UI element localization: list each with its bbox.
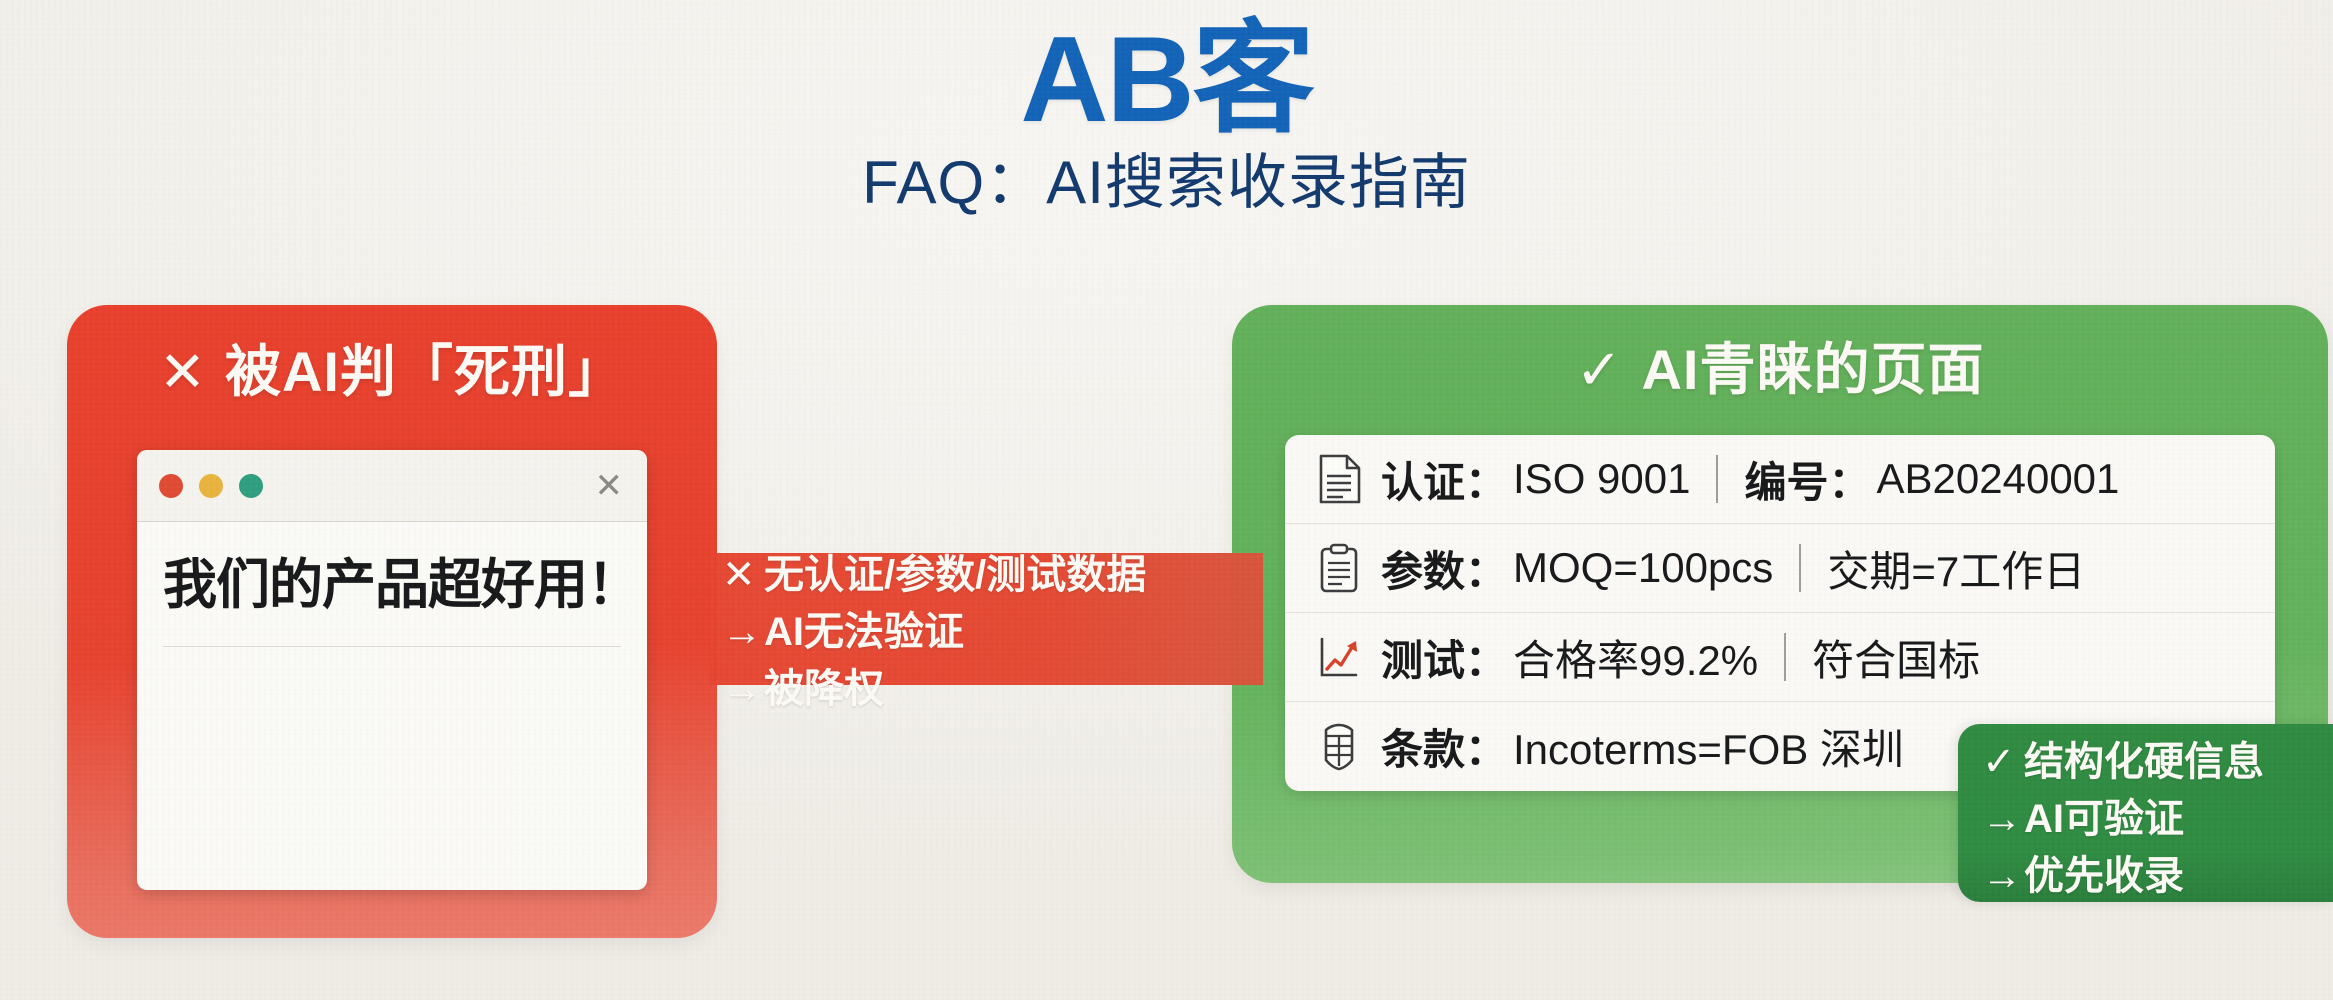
panel-bad-header: ✕被AI判「死刑」 <box>67 305 717 408</box>
check-mark-icon: ✓ <box>1576 337 1624 403</box>
row-value-primary: Incoterms=FOB 深圳 <box>1513 716 1904 777</box>
row-values: ISO 9001 编号： AB20240001 <box>1513 449 2119 510</box>
annotation-line: ✕无认证/参数/测试数据 <box>710 547 1146 604</box>
row-values: Incoterms=FOB 深圳 <box>1513 716 1904 777</box>
clipboard-icon <box>1313 542 1365 594</box>
annotation-text: 无认证/参数/测试数据 <box>764 553 1146 597</box>
annotation-bad-lines: ✕无认证/参数/测试数据 →AI无法验证 →被降权 <box>710 547 1146 717</box>
browser-content: 我们的产品超好用！ <box>137 522 647 647</box>
browser-window-mockup: ✕ 我们的产品超好用！ <box>137 450 647 890</box>
arrow-right-icon: → <box>1982 848 2024 905</box>
mock-page-headline: 我们的产品超好用！ <box>163 550 621 620</box>
traffic-light-close-icon[interactable] <box>159 474 183 498</box>
table-row: 参数： MOQ=100pcs 交期=7工作日 <box>1285 524 2275 613</box>
row-value-primary: ISO 9001 <box>1513 455 1690 503</box>
row-value-primary: MOQ=100pcs <box>1513 544 1773 592</box>
header: AB客 FAQ：AI搜索收录指南 <box>0 18 2333 216</box>
divider <box>163 646 621 647</box>
check-mark-icon: ✓ <box>1982 734 2024 791</box>
annotation-text: AI无法验证 <box>764 610 964 654</box>
annotation-text: 被降权 <box>764 667 884 711</box>
table-row: 认证： ISO 9001 编号： AB20240001 <box>1285 435 2275 524</box>
annotation-line: →被降权 <box>710 661 1146 718</box>
divider <box>1716 455 1718 503</box>
chart-increasing-icon <box>1313 631 1365 683</box>
row-label: 条款： <box>1381 716 1507 777</box>
infographic-canvas: AB客 FAQ：AI搜索收录指南 ✕被AI判「死刑」 ✕ 我们的产品超好用！ ✓… <box>0 0 2333 1000</box>
row-value-secondary: AB20240001 <box>1877 455 2120 503</box>
traffic-light-minimize-icon[interactable] <box>199 474 223 498</box>
row-label: 测试： <box>1381 627 1507 688</box>
annotation-good-lines: ✓结构化硬信息 →AI可验证 →优先收录 <box>1958 724 2333 904</box>
cross-mark-icon: ✕ <box>159 339 207 405</box>
panel-good-header: ✓AI青睐的页面 <box>1232 305 2328 406</box>
panel-bad-example: ✕被AI判「死刑」 ✕ 我们的产品超好用！ <box>67 305 717 938</box>
divider <box>1799 544 1801 592</box>
row-value-primary: 合格率99.2% <box>1513 627 1758 688</box>
annotation-text: AI可验证 <box>2024 797 2184 841</box>
annotation-text: 优先收录 <box>2024 854 2184 898</box>
annotation-bad: ✕无认证/参数/测试数据 →AI无法验证 →被降权 <box>710 553 1263 685</box>
row-value-secondary: 交期=7工作日 <box>1827 538 2085 599</box>
row-values: 合格率99.2% 符合国标 <box>1513 627 1980 688</box>
annotation-line: →优先收录 <box>1982 848 2333 905</box>
cross-mark-icon: ✕ <box>722 547 764 604</box>
row-label: 参数： <box>1381 538 1507 599</box>
close-icon[interactable]: ✕ <box>595 469 624 503</box>
arrow-right-icon: → <box>722 604 764 661</box>
divider <box>1784 633 1786 681</box>
bank-icon <box>1313 721 1365 773</box>
traffic-light-maximize-icon[interactable] <box>239 474 263 498</box>
document-icon <box>1313 453 1365 505</box>
annotation-line: →AI可验证 <box>1982 791 2333 848</box>
arrow-right-icon: → <box>1982 791 2024 848</box>
table-row: 测试： 合格率99.2% 符合国标 <box>1285 613 2275 702</box>
row-label: 认证： <box>1381 449 1507 510</box>
panel-good-title: AI青睐的页面 <box>1641 338 1984 401</box>
panel-bad-title: 被AI判「死刑」 <box>225 340 625 403</box>
page-title: AB客 <box>0 18 2333 140</box>
annotation-line: ✓结构化硬信息 <box>1982 734 2333 791</box>
page-subtitle: FAQ：AI搜索收录指南 <box>0 150 2333 216</box>
row-label-secondary: 编号： <box>1744 449 1870 510</box>
row-values: MOQ=100pcs 交期=7工作日 <box>1513 538 2085 599</box>
row-value-secondary: 符合国标 <box>1812 627 1980 688</box>
annotation-line: →AI无法验证 <box>710 604 1146 661</box>
annotation-good: ✓结构化硬信息 →AI可验证 →优先收录 <box>1958 724 2333 902</box>
arrow-right-icon: → <box>722 661 764 718</box>
annotation-text: 结构化硬信息 <box>2024 740 2264 784</box>
browser-titlebar: ✕ <box>137 450 647 522</box>
